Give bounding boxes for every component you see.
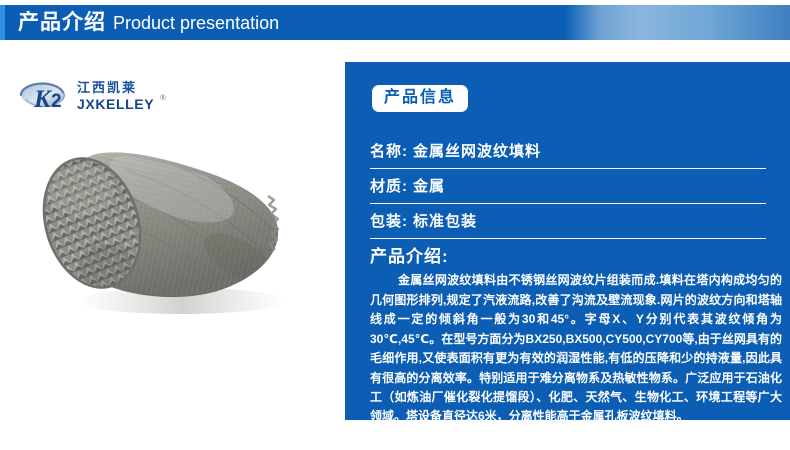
brand-logo: K 2 江西凯莱 JXKELLEY ® xyxy=(18,80,154,114)
product-photo xyxy=(22,118,332,318)
spec-label-name: 名称: xyxy=(370,140,408,161)
brand-logo-text: 江西凯莱 JXKELLEY ® xyxy=(77,81,154,112)
page-header-bar: 产品介绍 Product presentation xyxy=(0,5,790,40)
spec-row-name: 名称: 金属丝网波纹填料 xyxy=(370,134,766,169)
product-description-block: 产品介绍: 金属丝网波纹填料由不锈钢丝网波纹片组装而成.填料在塔内构成均匀的几何… xyxy=(370,247,782,427)
brand-name-en: JXKELLEY ® xyxy=(77,96,154,112)
k2-swoosh-icon: K 2 xyxy=(18,80,74,114)
product-info-badge: 产品信息 xyxy=(372,85,468,112)
product-presentation-page: 产品介绍 Product presentation K 2 xyxy=(0,0,790,450)
product-spec-list: 名称: 金属丝网波纹填料 材质: 金属 包装: 标准包装 xyxy=(370,134,766,239)
spec-row-material: 材质: 金属 xyxy=(370,169,766,204)
product-description-body: 金属丝网波纹填料由不锈钢丝网波纹片组装而成.填料在塔内构成均匀的几何图形排列,规… xyxy=(370,271,782,427)
page-title-en: Product presentation xyxy=(113,14,279,32)
page-title-cn: 产品介绍 xyxy=(18,12,106,33)
spec-label-material: 材质: xyxy=(370,175,408,196)
registered-trademark-icon: ® xyxy=(160,95,166,103)
svg-text:2: 2 xyxy=(51,91,62,112)
spec-value-material: 金属 xyxy=(413,175,445,196)
brand-name-cn: 江西凯莱 xyxy=(77,81,154,96)
svg-text:K: K xyxy=(33,86,53,113)
page-header-title-group: 产品介绍 Product presentation xyxy=(18,5,279,40)
spec-value-packaging: 标准包装 xyxy=(413,210,477,231)
brand-name-en-text: JXKELLEY xyxy=(77,96,154,112)
spec-row-packaging: 包装: 标准包装 xyxy=(370,204,766,239)
spec-label-packaging: 包装: xyxy=(370,210,408,231)
product-description-title: 产品介绍: xyxy=(370,247,782,267)
spec-value-name: 金属丝网波纹填料 xyxy=(413,140,541,161)
product-info-panel: 产品信息 名称: 金属丝网波纹填料 材质: 金属 包装: 标准包装 产品介绍: … xyxy=(345,62,790,420)
